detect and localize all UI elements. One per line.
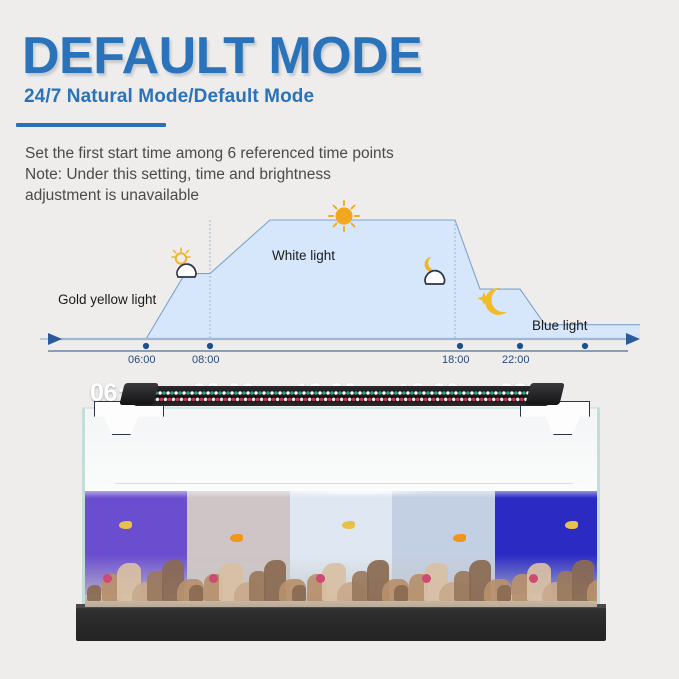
- led-array: [150, 388, 533, 404]
- tank-inner-edge: [115, 483, 573, 484]
- water-panel: [495, 491, 597, 607]
- led-light-bar: [133, 386, 548, 406]
- water-panel: [187, 491, 289, 607]
- tick-label-2200: 22:00: [502, 354, 530, 366]
- annotation-blue-light: Blue light: [532, 318, 588, 333]
- substrate-gravel: [495, 595, 597, 607]
- tank-stand: [76, 604, 606, 641]
- axis-arrow-left-icon: [48, 333, 62, 345]
- annotation-gold-yellow-light: Gold yellow light: [58, 292, 156, 307]
- header-divider: [16, 123, 166, 127]
- fish: [342, 521, 355, 529]
- infographic-page: DEFAULT MODE 24/7 Natural Mode/Default M…: [0, 0, 679, 679]
- substrate-gravel: [187, 595, 289, 607]
- tick-label-0600: 06:00: [128, 354, 156, 366]
- fish: [230, 534, 243, 542]
- aquarium-illustration: 06:0008:0013:0018:0022:00: [76, 373, 606, 641]
- water-panel: [85, 491, 187, 607]
- light-bar-endcap-left: [119, 383, 158, 405]
- sun-behind-cloud-icon: [172, 248, 196, 277]
- tick-markers: [143, 343, 588, 349]
- tank-water: [85, 491, 597, 607]
- substrate-gravel: [290, 595, 392, 607]
- page-title: DEFAULT MODE: [22, 26, 422, 86]
- light-bar-endcap-right: [525, 383, 564, 405]
- water-panel: [290, 491, 392, 607]
- fish: [119, 521, 132, 529]
- tick-label-1800: 18:00: [442, 354, 470, 366]
- tick-label-0800: 08:00: [192, 354, 220, 366]
- annotation-white-light: White light: [272, 248, 335, 263]
- page-subtitle: 24/7 Natural Mode/Default Mode: [24, 86, 314, 108]
- fish: [453, 534, 466, 542]
- chart-canvas: [40, 196, 640, 368]
- brightness-timeline-chart: Gold yellow light White light Blue light…: [40, 196, 640, 368]
- substrate-gravel: [85, 595, 187, 607]
- fish: [565, 521, 578, 529]
- water-panel: [392, 491, 494, 607]
- substrate-gravel: [392, 595, 494, 607]
- sun-icon: [329, 201, 359, 231]
